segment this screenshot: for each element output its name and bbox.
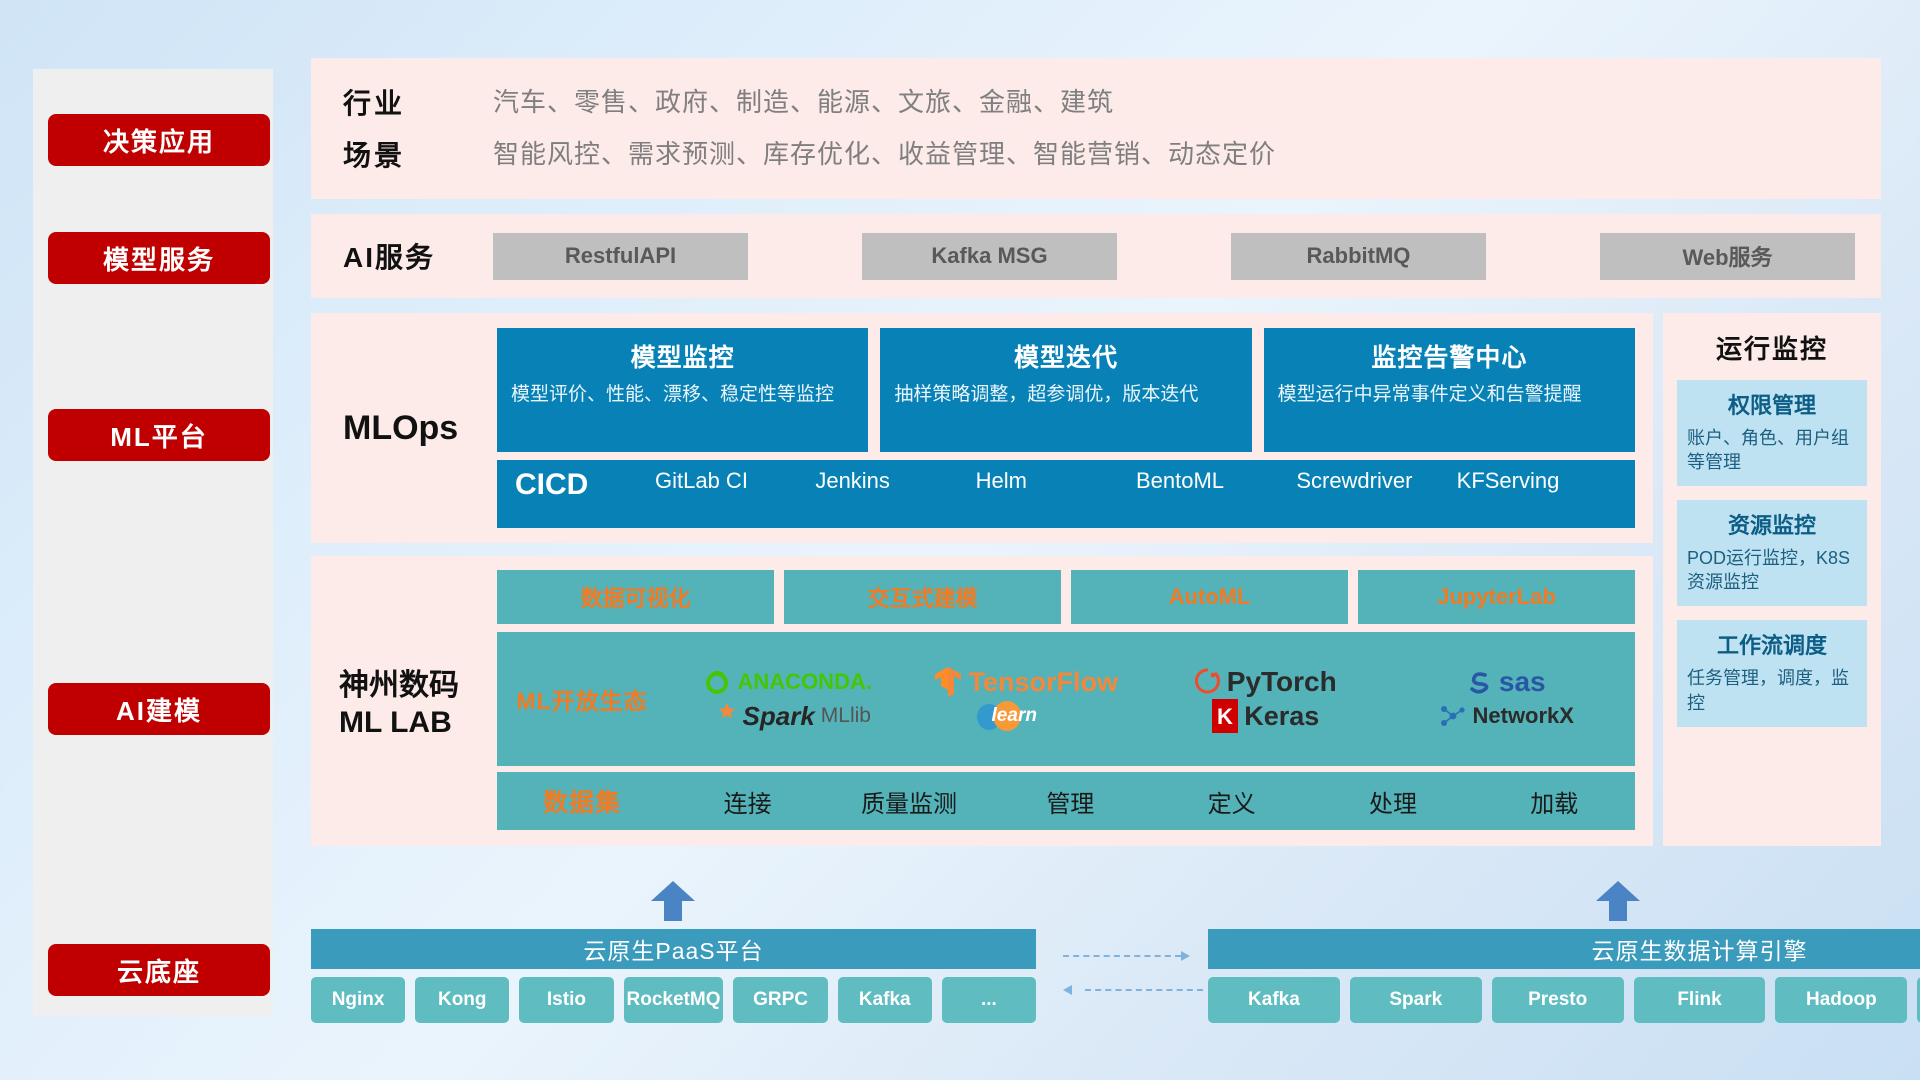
- ml-lab-label-line2: ML LAB: [339, 705, 507, 742]
- networkx-label: NetworkX: [1473, 703, 1574, 729]
- up-arrow-paas-icon: [651, 881, 695, 921]
- keras-label: Keras: [1244, 701, 1319, 732]
- engine-group: 云原生数据计算引擎 Kafka Spark Presto Flink Hadoo…: [1208, 929, 1920, 1023]
- layer-pill-label: 模型服务: [103, 240, 215, 277]
- layer-pill-label: ML平台: [110, 417, 208, 454]
- layer-pill-cloud-base[interactable]: 云底座: [48, 944, 270, 996]
- paas-tag[interactable]: Kafka: [838, 977, 932, 1023]
- engine-tag-list: Kafka Spark Presto Flink Hadoop Storm ..…: [1208, 977, 1920, 1023]
- link-arrow-left-icon: [1063, 989, 1203, 991]
- pytorch-logo: PyTorch: [1195, 666, 1337, 698]
- mlops-card[interactable]: 模型监控 模型评价、性能、漂移、稳定性等监控: [497, 328, 868, 452]
- scikit-learn-logo: learn: [974, 699, 1079, 733]
- ai-service-chip[interactable]: RabbitMQ: [1231, 233, 1486, 280]
- mlops-card-title: 监控告警中心: [1278, 338, 1621, 374]
- keras-logo: K Keras: [1212, 699, 1319, 733]
- mlops-card-desc: 模型运行中异常事件定义和告警提醒: [1278, 382, 1621, 407]
- paas-tag[interactable]: Istio: [519, 977, 613, 1023]
- anaconda-logo: ANACONDA.: [702, 667, 872, 697]
- mlops-card-title: 模型监控: [511, 338, 854, 374]
- ml-lab-label: 神州数码 ML LAB: [339, 668, 507, 741]
- cicd-item[interactable]: BentoML: [1136, 468, 1296, 493]
- ai-service-label: AI服务: [343, 236, 493, 276]
- ai-service-panel: AI服务 RestfulAPI Kafka MSG RabbitMQ Web服务: [311, 214, 1881, 298]
- cloud-foundation: 云原生PaaS平台 Nginx Kong Istio RocketMQ GRPC…: [311, 893, 1881, 1015]
- decision-apps-panel: 行业 汽车、零售、政府、制造、能源、文旅、金融、建筑 场景 智能风控、需求预测、…: [311, 58, 1881, 199]
- mlops-card[interactable]: 监控告警中心 模型运行中异常事件定义和告警提醒: [1264, 328, 1635, 452]
- industry-value: 汽车、零售、政府、制造、能源、文旅、金融、建筑: [493, 82, 1881, 122]
- monitoring-card-desc: POD运行监控，K8S资源监控: [1687, 546, 1857, 594]
- monitoring-card[interactable]: 资源监控 POD运行监控，K8S资源监控: [1677, 500, 1867, 606]
- ml-ecosystem-logo-grid: ANACONDA. TensorFlow PyTorch sas Spark: [667, 665, 1635, 733]
- engine-tag[interactable]: Spark: [1350, 977, 1482, 1023]
- dataset-label: 数据集: [497, 783, 667, 819]
- scenario-value: 智能风控、需求预测、库存优化、收益管理、智能营销、动态定价: [493, 134, 1881, 174]
- ai-service-chip[interactable]: Web服务: [1600, 233, 1855, 280]
- mlops-card-title: 模型迭代: [894, 338, 1237, 374]
- layer-rail: [33, 69, 273, 1016]
- cicd-item[interactable]: KFServing: [1457, 468, 1617, 493]
- anaconda-label: ANACONDA.: [738, 669, 872, 695]
- monitoring-panel: 运行监控 权限管理 账户、角色、用户组等管理 资源监控 POD运行监控，K8S资…: [1663, 313, 1881, 846]
- layer-pill-label: 决策应用: [103, 122, 215, 159]
- tensorflow-label: TensorFlow: [968, 667, 1118, 698]
- up-arrow-engine-icon: [1596, 881, 1640, 921]
- ml-lab-tool[interactable]: JupyterLab: [1358, 570, 1635, 624]
- ml-lab-tool[interactable]: 交互式建模: [784, 570, 1061, 624]
- layer-pill-label: 云底座: [117, 952, 201, 989]
- monitoring-card[interactable]: 权限管理 账户、角色、用户组等管理: [1677, 380, 1867, 486]
- dataset-bar: 数据集 连接 质量监测 管理 定义 处理 加载: [497, 772, 1635, 830]
- mlops-label: MLOps: [343, 409, 503, 448]
- layer-pill-decision[interactable]: 决策应用: [48, 114, 270, 166]
- engine-title: 云原生数据计算引擎: [1208, 929, 1920, 969]
- layer-pill-model-service[interactable]: 模型服务: [48, 232, 270, 284]
- svg-text:K: K: [1217, 704, 1233, 729]
- dataset-item[interactable]: 处理: [1312, 784, 1473, 819]
- dataset-item[interactable]: 管理: [990, 784, 1151, 819]
- engine-tag[interactable]: Presto: [1492, 977, 1624, 1023]
- paas-tag[interactable]: ...: [942, 977, 1036, 1023]
- cicd-item[interactable]: Helm: [976, 468, 1136, 493]
- ml-lab-panel: 神州数码 ML LAB 数据可视化 交互式建模 AutoML JupyterLa…: [311, 556, 1653, 846]
- monitoring-title: 运行监控: [1663, 313, 1881, 380]
- engine-tag[interactable]: Hadoop: [1775, 977, 1907, 1023]
- spark-label: Spark: [743, 701, 815, 732]
- cicd-item[interactable]: Jenkins: [815, 468, 975, 493]
- paas-group: 云原生PaaS平台 Nginx Kong Istio RocketMQ GRPC…: [311, 929, 1036, 1023]
- cicd-item[interactable]: Screwdriver: [1296, 468, 1456, 493]
- paas-tag[interactable]: Kong: [415, 977, 509, 1023]
- paas-title: 云原生PaaS平台: [311, 929, 1036, 969]
- dataset-item[interactable]: 连接: [667, 784, 828, 819]
- paas-tag[interactable]: RocketMQ: [624, 977, 724, 1023]
- paas-tag[interactable]: GRPC: [733, 977, 827, 1023]
- layer-pill-ml-platform[interactable]: ML平台: [48, 409, 270, 461]
- ml-ecosystem-label: ML开放生态: [497, 682, 667, 716]
- engine-tag[interactable]: Flink: [1634, 977, 1766, 1023]
- monitoring-card-desc: 账户、角色、用户组等管理: [1687, 426, 1857, 474]
- mlops-panel: MLOps 模型监控 模型评价、性能、漂移、稳定性等监控 模型迭代 抽样策略调整…: [311, 313, 1653, 543]
- paas-tag-list: Nginx Kong Istio RocketMQ GRPC Kafka ...: [311, 977, 1036, 1023]
- cicd-item[interactable]: GitLab CI: [655, 468, 815, 493]
- mlops-card-desc: 抽样策略调整，超参调优，版本迭代: [894, 382, 1237, 407]
- dataset-item[interactable]: 质量监测: [828, 784, 989, 819]
- monitoring-card-title: 工作流调度: [1687, 628, 1857, 660]
- ai-service-chip[interactable]: Kafka MSG: [862, 233, 1117, 280]
- ml-lab-tool-list: 数据可视化 交互式建模 AutoML JupyterLab: [497, 570, 1635, 624]
- industry-label: 行业: [343, 82, 493, 122]
- networkx-logo: NetworkX: [1437, 701, 1574, 731]
- ml-ecosystem-band: ML开放生态 ANACONDA. TensorFlow PyTorch sas: [497, 632, 1635, 766]
- mllib-label: MLlib: [821, 704, 871, 728]
- ml-lab-label-line1: 神州数码: [339, 668, 507, 705]
- pytorch-label: PyTorch: [1227, 666, 1337, 698]
- monitoring-card-desc: 任务管理，调度，监控: [1687, 666, 1857, 714]
- cicd-bar: CICD GitLab CI Jenkins Helm BentoML Scre…: [497, 460, 1635, 528]
- layer-pill-label: AI建模: [116, 691, 202, 728]
- ml-lab-tool[interactable]: 数据可视化: [497, 570, 774, 624]
- architecture-diagram: 决策应用 模型服务 ML平台 AI建模 云底座 行业 汽车、零售、政府、制造、能…: [0, 0, 1920, 1080]
- scenario-label: 场景: [343, 134, 493, 174]
- ai-service-chip[interactable]: RestfulAPI: [493, 233, 748, 280]
- dataset-item[interactable]: 加载: [1474, 784, 1635, 819]
- monitoring-card-title: 资源监控: [1687, 508, 1857, 540]
- ml-lab-tool[interactable]: AutoML: [1071, 570, 1348, 624]
- cicd-label: CICD: [515, 468, 655, 502]
- paas-tag[interactable]: Nginx: [311, 977, 405, 1023]
- dataset-item[interactable]: 定义: [1151, 784, 1312, 819]
- mlops-card-desc: 模型评价、性能、漂移、稳定性等监控: [511, 382, 854, 407]
- layer-pill-ai-modeling[interactable]: AI建模: [48, 683, 270, 735]
- spark-mllib-logo: Spark MLlib: [703, 701, 871, 732]
- tensorflow-logo: TensorFlow: [934, 666, 1118, 698]
- mlops-card-list: 模型监控 模型评价、性能、漂移、稳定性等监控 模型迭代 抽样策略调整，超参调优，…: [497, 328, 1635, 452]
- monitoring-card[interactable]: 工作流调度 任务管理，调度，监控: [1677, 620, 1867, 726]
- ai-service-chip-list: RestfulAPI Kafka MSG RabbitMQ Web服务: [493, 233, 1881, 280]
- mlops-card[interactable]: 模型迭代 抽样策略调整，超参调优，版本迭代: [880, 328, 1251, 452]
- sas-label: sas: [1499, 666, 1546, 698]
- sas-logo: sas: [1465, 666, 1546, 698]
- scikit-learn-label: learn: [992, 705, 1037, 727]
- link-arrow-right-icon: [1063, 955, 1203, 957]
- monitoring-card-title: 权限管理: [1687, 388, 1857, 420]
- engine-tag[interactable]: Kafka: [1208, 977, 1340, 1023]
